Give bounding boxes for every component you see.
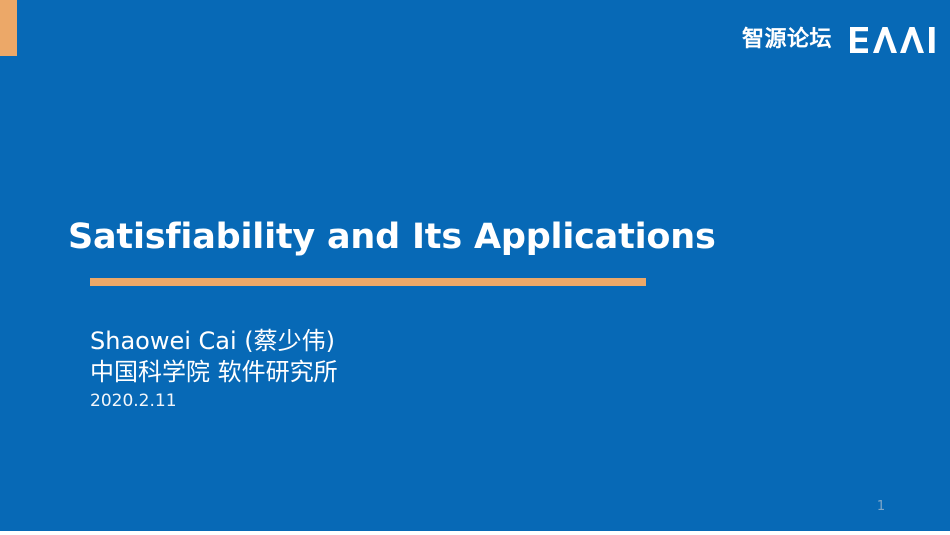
slide-number: 1 <box>868 500 894 513</box>
title-underline-rule-icon <box>90 278 646 286</box>
page-title: Satisfiability and Its Applications <box>68 218 888 257</box>
corner-accent-bar-icon <box>0 0 17 56</box>
slide-background <box>0 0 950 531</box>
forum-name-label: 智源论坛 <box>742 29 832 51</box>
title-slide: 智源论坛 Satisfiability and Its Applications… <box>0 0 950 535</box>
slide-bottom-edge <box>0 531 950 535</box>
title-block: Satisfiability and Its Applications <box>68 218 888 257</box>
presenter-block: Shaowei Cai (蔡少伟) 中国科学院 软件研究所 2020.2.11 <box>90 326 790 413</box>
presenter-name: Shaowei Cai (蔡少伟) <box>90 326 790 357</box>
presentation-date: 2020.2.11 <box>90 390 790 412</box>
brand-lockup: 智源论坛 <box>742 24 936 56</box>
presenter-affiliation: 中国科学院 软件研究所 <box>90 357 790 388</box>
baai-wordmark-icon <box>850 27 936 53</box>
